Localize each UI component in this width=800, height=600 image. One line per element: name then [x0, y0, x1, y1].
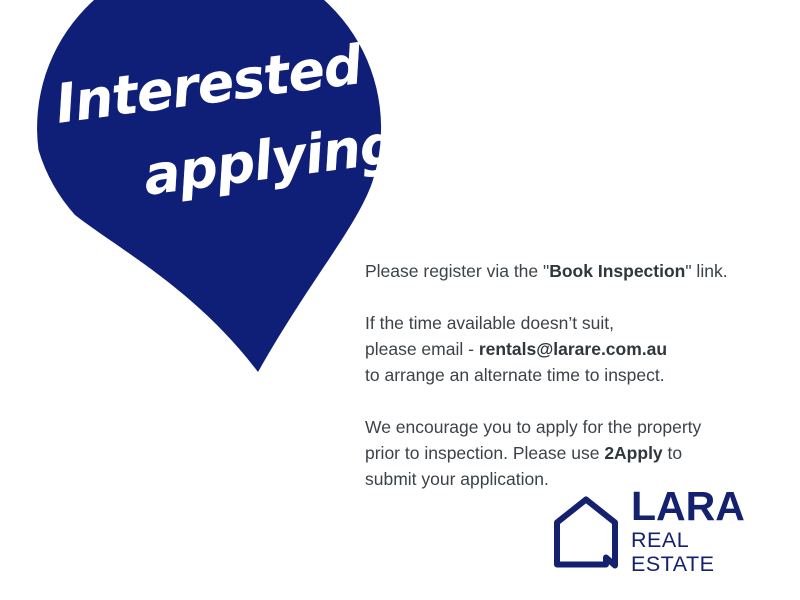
pin-headline: Interested in applying? [40, 62, 400, 222]
plain-text: " link. [685, 261, 727, 281]
paragraph-register: Please register via the "Book Inspection… [365, 258, 765, 284]
body-copy: Please register via the "Book Inspection… [365, 258, 765, 492]
emphasis-text: 2Apply [604, 443, 662, 463]
plain-text: submit your application. [365, 469, 549, 489]
emphasis-text: Book Inspection [549, 261, 685, 281]
paragraph-email: If the time available doesn’t suit,pleas… [365, 310, 765, 388]
copy-line: Please register via the "Book Inspection… [365, 258, 765, 284]
copy-line: please email - rentals@larare.com.au [365, 336, 765, 362]
logo-tagline: REAL ESTATE [631, 529, 768, 576]
logo-name: LARA [631, 487, 768, 526]
copy-line: We encourage you to apply for the proper… [365, 414, 765, 440]
plain-text: If the time available doesn’t suit, [365, 313, 614, 333]
house-speech-bubble-svg [553, 495, 619, 569]
emphasis-text: rentals@larare.com.au [479, 339, 667, 359]
plain-text: to [663, 443, 682, 463]
house-outline-path [557, 500, 615, 566]
logo-wordmark: LARA REAL ESTATE [631, 487, 768, 576]
plain-text: prior to inspection. Please use [365, 443, 604, 463]
plain-text: to arrange an alternate time to inspect. [365, 365, 665, 385]
plain-text: We encourage you to apply for the proper… [365, 417, 701, 437]
paragraph-apply: We encourage you to apply for the proper… [365, 414, 765, 492]
headline-line-2: applying? [140, 113, 430, 204]
plain-text: Please register via the " [365, 261, 549, 281]
plain-text: please email - [365, 339, 479, 359]
copy-line: to arrange an alternate time to inspect. [365, 362, 765, 388]
copy-line: If the time available doesn’t suit, [365, 310, 765, 336]
poster-canvas: Interested in applying? Please register … [0, 0, 800, 600]
lara-real-estate-logo: LARA REAL ESTATE [553, 492, 768, 572]
house-speech-bubble-icon [553, 495, 619, 569]
copy-line: prior to inspection. Please use 2Apply t… [365, 440, 765, 466]
